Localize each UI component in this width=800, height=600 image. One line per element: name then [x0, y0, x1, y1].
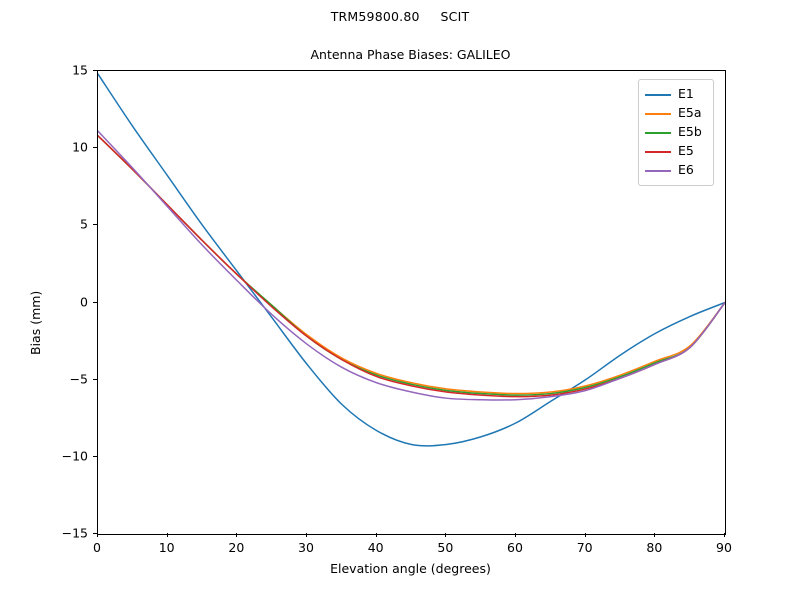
x-tick-label: 40	[368, 540, 384, 555]
legend-box: E1E5aE5bE5E6	[638, 79, 714, 186]
y-tick-label: 15	[48, 63, 88, 78]
x-tick-label: 70	[577, 540, 593, 555]
x-tick-label: 20	[228, 540, 244, 555]
legend-entry-e5b: E5b	[645, 123, 707, 142]
legend-line-swatch-e5b	[645, 132, 671, 134]
axes-title: Antenna Phase Biases: GALILEO	[97, 47, 724, 62]
legend-label: E5	[678, 145, 694, 158]
series-lines-svg	[98, 71, 725, 534]
legend-line-swatch-e5	[645, 151, 671, 153]
y-tick-label: 10	[48, 140, 88, 155]
x-tick-label: 60	[507, 540, 523, 555]
series-line-e1	[98, 74, 725, 446]
legend-label: E5b	[678, 126, 702, 139]
series-line-e5b	[98, 136, 725, 395]
legend-line-swatch-e1	[645, 94, 671, 96]
x-tick-label: 0	[93, 540, 101, 555]
legend-entry-e5: E5	[645, 142, 707, 161]
plot-area	[97, 70, 726, 535]
legend-label: E6	[678, 164, 694, 177]
y-tick-label: −10	[48, 448, 88, 463]
figure-suptitle: TRM59800.80 SCIT	[0, 9, 800, 24]
x-tick-label: 90	[716, 540, 732, 555]
x-axis-label: Elevation angle (degrees)	[97, 561, 724, 576]
x-tick-label: 30	[298, 540, 314, 555]
figure-canvas: TRM59800.80 SCIT Antenna Phase Biases: G…	[0, 0, 800, 600]
y-axis-label: Bias (mm)	[28, 291, 43, 355]
legend-label: E1	[678, 88, 694, 101]
legend-line-swatch-e6	[645, 170, 671, 172]
legend-entry-e6: E6	[645, 161, 707, 180]
legend-line-swatch-e5a	[645, 113, 671, 115]
legend-label: E5a	[678, 107, 702, 120]
y-tick-label: 0	[48, 294, 88, 309]
series-line-e5a	[98, 136, 725, 394]
y-tick-label: −5	[48, 371, 88, 386]
x-tick-label: 80	[646, 540, 662, 555]
y-tick-label: 5	[48, 217, 88, 232]
series-line-e5	[98, 136, 725, 397]
y-tick-label: −15	[48, 526, 88, 541]
series-line-e6	[98, 131, 725, 400]
x-tick-label: 50	[437, 540, 453, 555]
x-tick-label: 10	[159, 540, 175, 555]
legend-entry-e5a: E5a	[645, 104, 707, 123]
legend-entry-e1: E1	[645, 85, 707, 104]
